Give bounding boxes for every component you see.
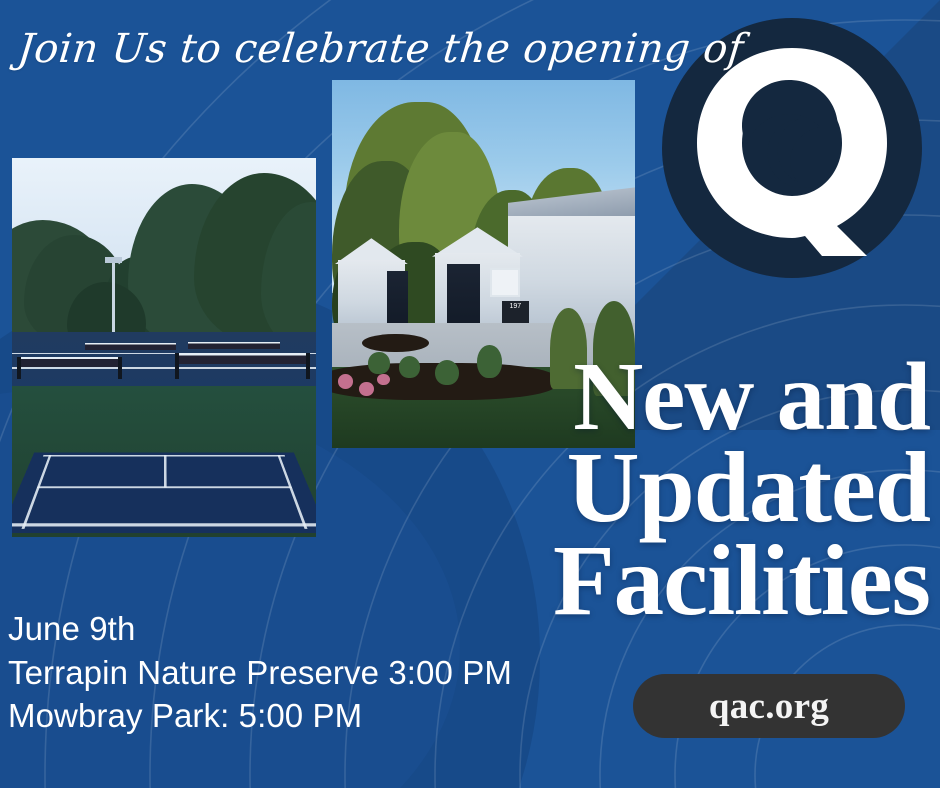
building-address-sign: 197 — [502, 301, 529, 323]
website-url-label: qac.org — [709, 685, 829, 728]
left-building-door — [387, 271, 408, 330]
page-title: New and Updated Facilities — [270, 352, 930, 627]
courts-tree-line — [12, 173, 316, 355]
event-flyer-poster: 197 Join Us to celebrate the opening of … — [0, 0, 940, 788]
event-date: June 9th — [8, 607, 512, 651]
far-net-2 — [188, 342, 279, 349]
website-url-badge[interactable]: qac.org — [633, 674, 905, 738]
near-net-left — [18, 357, 121, 367]
headline-line-2: Updated — [270, 441, 930, 534]
logo-crescent-wave — [742, 80, 838, 188]
event-details: June 9th Terrapin Nature Preserve 3:00 P… — [8, 607, 512, 738]
center-building-window — [490, 268, 520, 297]
event-location-1: Terrapin Nature Preserve 3:00 PM — [8, 651, 512, 695]
event-location-2: Mowbray Park: 5:00 PM — [8, 694, 512, 738]
headline-line-1: New and — [270, 352, 930, 441]
invitation-script-line: Join Us to celebrate the opening of — [16, 26, 746, 72]
far-net — [85, 343, 176, 350]
